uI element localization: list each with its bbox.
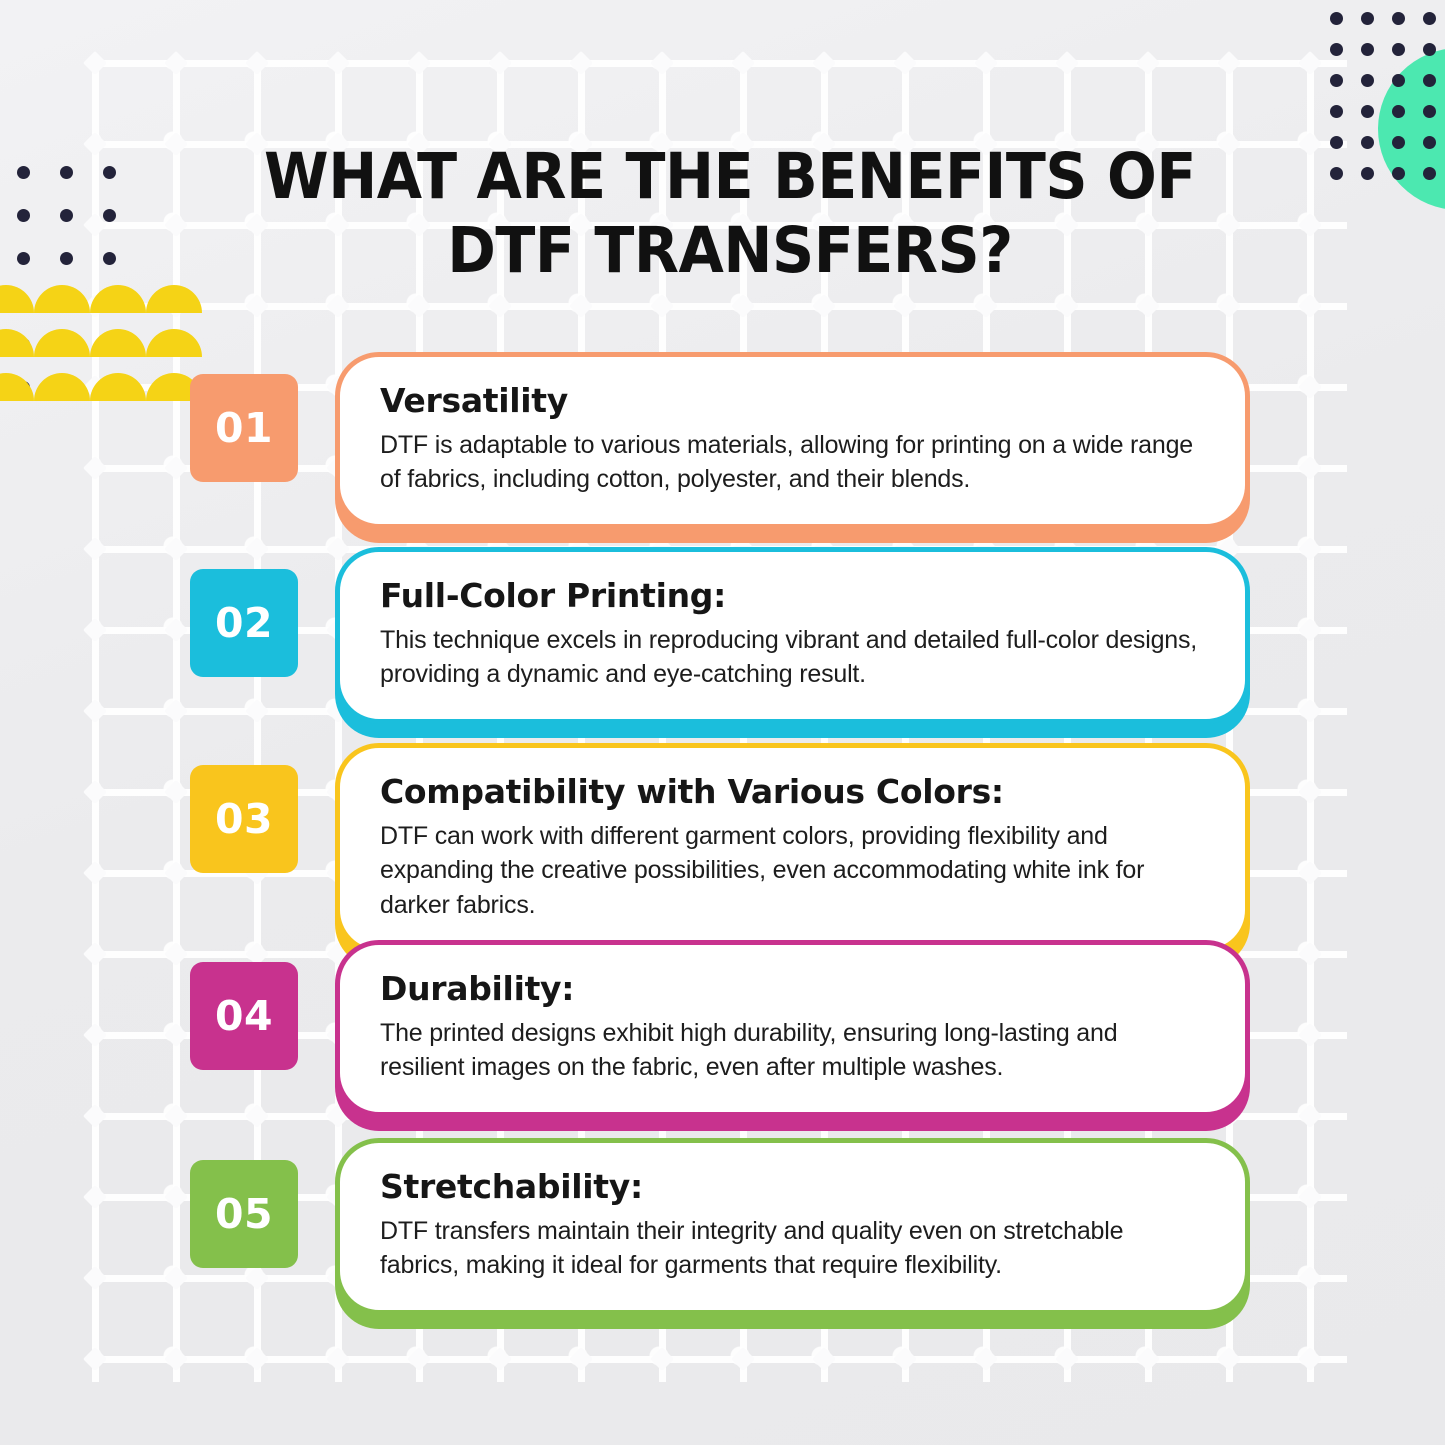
grid-node-diamond (326, 1347, 350, 1371)
decorative-dot (1423, 74, 1436, 87)
grid-node-diamond (164, 780, 188, 804)
decorative-dot (17, 166, 30, 179)
grid-node-diamond (731, 294, 755, 318)
decorative-dot (1392, 167, 1405, 180)
grid-node-diamond (974, 294, 998, 318)
benefit-card-wrapper: Durability:The printed designs exhibit h… (335, 940, 1250, 1117)
decorative-dot (1361, 136, 1374, 149)
grid-node-diamond (245, 537, 269, 561)
grid-node-diamond (1298, 699, 1322, 723)
grid-node-diamond (1136, 294, 1160, 318)
grid-node-diamond (164, 537, 188, 561)
grid-node-diamond (164, 1347, 188, 1371)
benefit-heading: Versatility (380, 382, 1205, 420)
grid-node-diamond (1298, 456, 1322, 480)
grid-node-diamond (569, 1347, 593, 1371)
decorative-dot (1392, 12, 1405, 25)
grid-node-diamond (1298, 1023, 1322, 1047)
decorative-dot (1361, 74, 1374, 87)
grid-node-diamond (407, 294, 431, 318)
benefit-heading: Durability: (380, 970, 1205, 1008)
benefit-body-text: The printed designs exhibit high durabil… (380, 1016, 1205, 1085)
decorative-dot (1330, 12, 1343, 25)
grid-node-diamond (245, 699, 269, 723)
grid-node-diamond (164, 861, 188, 885)
grid-node-diamond (245, 1347, 269, 1371)
benefit-heading: Stretchability: (380, 1168, 1205, 1206)
grid-node-diamond (1298, 537, 1322, 561)
decorative-dot (17, 209, 30, 222)
benefit-number-badge: 01 (190, 374, 298, 482)
decorative-dot (1361, 105, 1374, 118)
grid-node-diamond (974, 1347, 998, 1371)
benefit-card[interactable]: Full-Color Printing:This technique excel… (335, 547, 1250, 724)
benefit-number-badge: 05 (190, 1160, 298, 1268)
grid-node-diamond (1298, 294, 1322, 318)
decorative-dot (1423, 167, 1436, 180)
decorative-dot (1392, 105, 1405, 118)
grid-node-diamond (164, 942, 188, 966)
benefit-number-badge: 02 (190, 569, 298, 677)
benefit-body-text: DTF can work with different garment colo… (380, 819, 1205, 923)
benefit-number-badge: 03 (190, 765, 298, 873)
decorative-dot (60, 252, 73, 265)
grid-node-diamond (1298, 1185, 1322, 1209)
decorative-dot (60, 166, 73, 179)
grid-node-diamond (1298, 213, 1322, 237)
decorative-dot (1330, 167, 1343, 180)
benefit-card[interactable]: Compatibility with Various Colors:DTF ca… (335, 743, 1250, 954)
decorative-dot (1423, 43, 1436, 56)
grid-node-diamond (569, 294, 593, 318)
grid-node-diamond (245, 1266, 269, 1290)
page-title: WHAT ARE THE BENEFITS OF DTF TRANSFERS? (191, 140, 1270, 289)
decorative-dot (1423, 105, 1436, 118)
benefit-card[interactable]: VersatilityDTF is adaptable to various m… (335, 352, 1250, 529)
grid-node-diamond (893, 1347, 917, 1371)
decorative-dot (1330, 136, 1343, 149)
benefit-card[interactable]: Stretchability:DTF transfers maintain th… (335, 1138, 1250, 1315)
grid-node-diamond (164, 699, 188, 723)
benefit-card-wrapper: Full-Color Printing:This technique excel… (335, 547, 1250, 724)
grid-node-diamond (164, 1185, 188, 1209)
grid-node-diamond (1298, 618, 1322, 642)
grid-node-diamond (488, 1347, 512, 1371)
grid-node-diamond (1055, 1347, 1079, 1371)
grid-node-diamond (650, 294, 674, 318)
decorative-dot (103, 252, 116, 265)
grid-node-diamond (1298, 1347, 1322, 1371)
grid-node-diamond (164, 1104, 188, 1128)
grid-node-diamond (812, 1347, 836, 1371)
grid-node-diamond (650, 1347, 674, 1371)
grid-node-diamond (164, 1266, 188, 1290)
grid-node-diamond (164, 618, 188, 642)
grid-node-diamond (1217, 1347, 1241, 1371)
infographic-poster: WHAT ARE THE BENEFITS OF DTF TRANSFERS? … (0, 0, 1445, 1445)
grid-node-diamond (407, 1347, 431, 1371)
grid-node-diamond (893, 294, 917, 318)
grid-node-diamond (731, 1347, 755, 1371)
decorative-dot (1423, 12, 1436, 25)
grid-node-diamond (164, 456, 188, 480)
grid-node-diamond (1217, 294, 1241, 318)
benefit-body-text: This technique excels in reproducing vib… (380, 623, 1205, 692)
decorative-dot (1423, 136, 1436, 149)
grid-node-diamond (1298, 942, 1322, 966)
benefit-body-text: DTF transfers maintain their integrity a… (380, 1214, 1205, 1283)
grid-node-diamond (1298, 375, 1322, 399)
decorative-dot (1330, 105, 1343, 118)
benefit-card-wrapper: VersatilityDTF is adaptable to various m… (335, 352, 1250, 529)
decorative-dot (60, 209, 73, 222)
decorative-dot (103, 209, 116, 222)
decorative-dot (1330, 74, 1343, 87)
grid-node-diamond (1298, 1104, 1322, 1128)
grid-node-diamond (164, 213, 188, 237)
decorative-dot (1392, 136, 1405, 149)
grid-node-diamond (1298, 780, 1322, 804)
benefit-heading: Compatibility with Various Colors: (380, 773, 1205, 811)
grid-node-diamond (326, 294, 350, 318)
benefit-card-wrapper: Stretchability:DTF transfers maintain th… (335, 1138, 1250, 1315)
grid-node-diamond (164, 132, 188, 156)
grid-node-diamond (1298, 132, 1322, 156)
benefit-body-text: DTF is adaptable to various materials, a… (380, 428, 1205, 497)
decorative-dot (1361, 43, 1374, 56)
benefit-card[interactable]: Durability:The printed designs exhibit h… (335, 940, 1250, 1117)
decorative-dot (1392, 43, 1405, 56)
grid-node-diamond (1055, 294, 1079, 318)
grid-node-diamond (164, 1023, 188, 1047)
decorative-dot (1392, 74, 1405, 87)
decorative-dot (1330, 43, 1343, 56)
grid-node-diamond (245, 294, 269, 318)
grid-node-diamond (245, 1104, 269, 1128)
grid-node-diamond (488, 294, 512, 318)
grid-node-diamond (812, 294, 836, 318)
benefit-number-badge: 04 (190, 962, 298, 1070)
decorative-dot (103, 166, 116, 179)
decorative-dot (17, 252, 30, 265)
decorative-dot (1361, 167, 1374, 180)
decorative-dot (1361, 12, 1374, 25)
benefit-card-wrapper: Compatibility with Various Colors:DTF ca… (335, 743, 1250, 954)
grid-node-diamond (1298, 861, 1322, 885)
grid-node-diamond (1136, 1347, 1160, 1371)
grid-node-diamond (1298, 1266, 1322, 1290)
benefit-heading: Full-Color Printing: (380, 577, 1205, 615)
